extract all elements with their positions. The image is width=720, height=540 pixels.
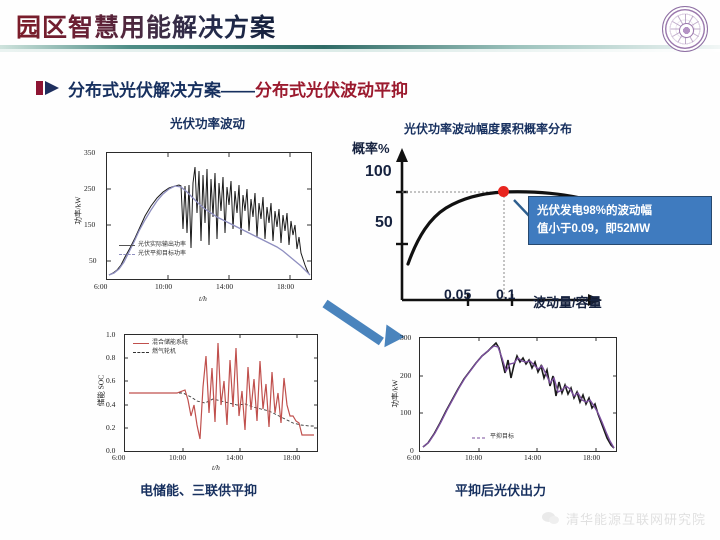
legend-item: 平抑目标 (490, 433, 514, 442)
section-bullet-icon (36, 81, 60, 95)
legend-label-smoothing-target: 平抑目标 (490, 433, 514, 442)
chart1-ytick: 150 (84, 220, 95, 229)
chart2-ytick: 50 (375, 214, 393, 232)
callout-box: 光伏发电98%的波动幅 值小于0.09，即52MW (528, 196, 712, 245)
chart1-ytick: 50 (89, 256, 97, 265)
chart1-x-axis-label: t/h (199, 294, 207, 303)
legend-label-target: 光伏平抑目标功率 (138, 250, 186, 259)
chart4-ytick: 100 (400, 408, 411, 417)
chart3-ytick: 0.2 (106, 423, 115, 432)
chart3-x-axis-label: t/h (212, 463, 220, 472)
chart4-xtick: 18:00 (583, 453, 600, 462)
header-divider-shadow (0, 49, 720, 52)
legend-item: 混合储能系统 (133, 339, 188, 348)
highlight-point-marker (498, 186, 509, 197)
legend-item: 燃气轮机 (133, 348, 188, 357)
chart3-xtick: 18:00 (283, 453, 300, 462)
section-heading: 分布式光伏解决方案——分布式光伏波动平抑 (68, 76, 408, 101)
callout-line-1: 光伏发电98%的波动幅 (537, 202, 703, 220)
callout-line-2: 值小于0.09，即52MW (537, 220, 703, 238)
legend-swatch-hybrid-storage (133, 343, 149, 344)
chart4-ytick: 200 (400, 371, 411, 380)
watermark-text: 清华能源互联网研究院 (566, 509, 706, 528)
caption-smoothed-output: 平抑后光伏出力 (455, 480, 546, 499)
chart1-ytick: 350 (84, 148, 95, 157)
chart3-ytick: 0.6 (106, 376, 115, 385)
legend-item: 光伏平抑目标功率 (119, 250, 186, 259)
chart-pv-fluctuation-plot: 光伏实际输出功率 光伏平抑目标功率 (106, 152, 312, 280)
chart3-ytick: 0.8 (106, 353, 115, 362)
watermark: 清华能源互联网研究院 (542, 509, 706, 528)
legend-label-gas-turbine: 燃气轮机 (152, 348, 176, 357)
chart-title-pv-fluctuation: 光伏功率波动 (170, 113, 245, 132)
chart1-xtick: 14:00 (216, 282, 233, 291)
legend-swatch-target (119, 254, 135, 255)
page-title: 园区智慧用能解决方案 (16, 8, 276, 44)
chart4-xtick: 10:00 (465, 453, 482, 462)
chart-smoothed-output-plot: 平抑目标 (419, 337, 617, 452)
chart2-ytick: 100 (365, 163, 392, 181)
seal-center (679, 23, 694, 38)
chart3-xtick: 10:00 (169, 453, 186, 462)
section-heading-secondary: 分布式光伏波动平抑 (255, 81, 408, 100)
chart4-xtick: 6:00 (407, 453, 420, 462)
caption-storage: 电储能、三联供平抑 (140, 480, 257, 499)
legend-label-hybrid-storage: 混合储能系统 (152, 339, 188, 348)
chart-pv-fluctuation-legend: 光伏实际输出功率 光伏平抑目标功率 (119, 241, 186, 259)
section-heading-primary: 分布式光伏解决方案—— (68, 81, 255, 100)
chart1-y-axis-label: 功率/kW (73, 188, 84, 234)
smoothed-output-svg (420, 338, 616, 451)
pv-fluctuation-svg (107, 153, 311, 279)
chart2-xtick: 0.1 (496, 286, 515, 302)
chart3-y-axis-label: 储能 SOC (96, 366, 107, 416)
chart2-y-axis-label: 概率% (352, 138, 390, 157)
chart3-ytick: 0.4 (106, 400, 115, 409)
legend-label-actual: 光伏实际输出功率 (138, 241, 186, 250)
chart4-y-axis-label: 功率/kW (390, 370, 401, 418)
slide-root: 园区智慧用能解决方案 分布式光伏解决方案——分布式光伏波动平抑 光伏功率波动 (0, 0, 720, 540)
chart2-xtick: 0.05 (444, 286, 471, 302)
chart3-xtick: 14:00 (226, 453, 243, 462)
tsinghua-seal-icon (662, 6, 708, 52)
chart1-xtick: 10:00 (155, 282, 172, 291)
chart4-ytick: 300 (400, 333, 411, 342)
chart-storage-soc-legend: 混合储能系统 燃气轮机 (133, 339, 188, 357)
legend-swatch-gas-turbine (133, 352, 149, 353)
chart1-ytick: 250 (84, 184, 95, 193)
chart-smoothed-output-legend: 平抑目标 (490, 433, 514, 442)
chart2-x-axis-label: 波动量/容量 (533, 292, 602, 311)
legend-swatch-actual (119, 245, 135, 246)
legend-item: 光伏实际输出功率 (119, 241, 186, 250)
chart1-xtick: 6:00 (94, 282, 107, 291)
chart-storage-soc-plot: 混合储能系统 燃气轮机 (124, 334, 318, 452)
chart-title-cumulative-probability: 光伏功率波动幅度累积概率分布 (404, 120, 572, 137)
chart3-ytick: 1.0 (106, 330, 115, 339)
chart3-xtick: 6:00 (112, 453, 125, 462)
wechat-icon (542, 512, 560, 526)
chart1-xtick: 18:00 (277, 282, 294, 291)
chart4-xtick: 14:00 (524, 453, 541, 462)
